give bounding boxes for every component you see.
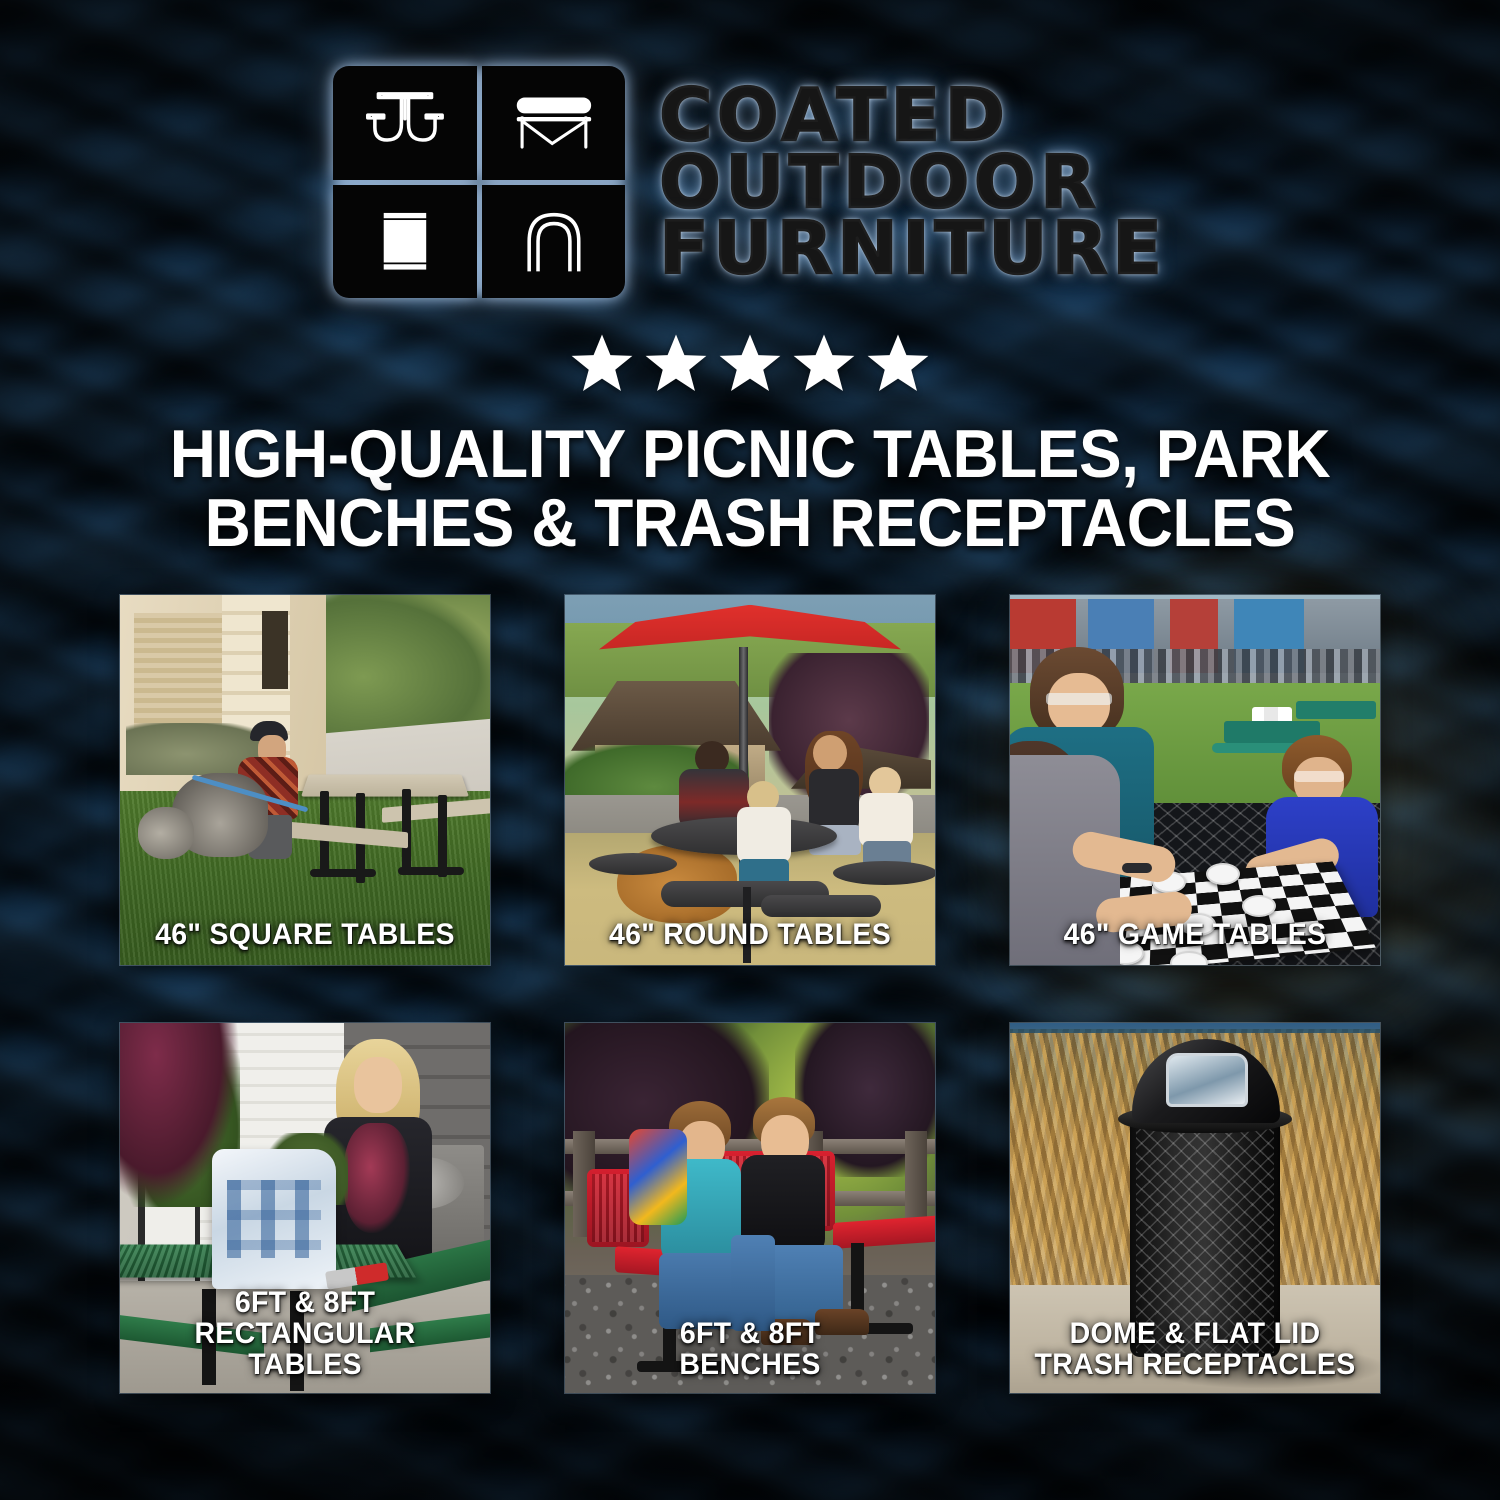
caption-line-1: 46" SQUARE TABLES — [155, 918, 455, 951]
brand-name-line-3: FURNITURE — [659, 215, 1166, 282]
caption-line-2: RECTANGULAR TABLES — [137, 1319, 473, 1381]
flat-lid-trash-can-icon — [333, 185, 477, 299]
caption-line-1: 46" ROUND TABLES — [609, 918, 891, 951]
caption-line-2: BENCHES — [582, 1350, 918, 1381]
caption-line-2: TRASH RECEPTACLES — [1027, 1350, 1363, 1381]
picnic-table-icon — [333, 66, 477, 180]
product-photo-round-tables — [565, 595, 935, 965]
product-caption-square-tables: 46" SQUARE TABLES — [129, 920, 481, 951]
brand-logo-mark — [333, 66, 625, 298]
product-caption-rectangular-tables: 6FT & 8FT RECTANGULAR TABLES — [129, 1288, 481, 1381]
brand-logo-text: COATED OUTDOOR FURNITURE — [659, 82, 1166, 283]
bench-icon — [482, 66, 626, 180]
caption-line-1: 6FT & 8FT — [680, 1317, 820, 1350]
caption-line-1: 46" GAME TABLES — [1064, 918, 1327, 951]
brand-logo: COATED OUTDOOR FURNITURE — [0, 0, 1500, 298]
product-caption-benches: 6FT & 8FT BENCHES — [574, 1319, 926, 1381]
headline-line-2: BENCHES & TRASH RECEPTACLES — [111, 489, 1389, 558]
dome-lid-trash-can-icon — [482, 185, 626, 299]
product-caption-round-tables: 46" ROUND TABLES — [574, 920, 926, 951]
page-title: HIGH-QUALITY PICNIC TABLES, PARK BENCHES… — [45, 420, 1455, 559]
caption-line-1: 6FT & 8FT — [235, 1286, 375, 1319]
product-card-benches[interactable]: 6FT & 8FT BENCHES — [565, 1023, 935, 1393]
product-caption-trash-receptacles: DOME & FLAT LID TRASH RECEPTACLES — [1019, 1319, 1371, 1381]
product-card-game-tables[interactable]: 46" GAME TABLES — [1010, 595, 1380, 965]
star-icon — [645, 332, 707, 394]
headline-line-1: HIGH-QUALITY PICNIC TABLES, PARK — [170, 416, 1330, 492]
star-icon — [571, 332, 633, 394]
product-photo-game-tables — [1010, 595, 1380, 965]
star-rating — [0, 332, 1500, 394]
star-icon — [793, 332, 855, 394]
star-icon — [719, 332, 781, 394]
product-caption-game-tables: 46" GAME TABLES — [1019, 920, 1371, 951]
product-card-square-tables[interactable]: 46" SQUARE TABLES — [120, 595, 490, 965]
product-card-round-tables[interactable]: 46" ROUND TABLES — [565, 595, 935, 965]
promotional-banner: COATED OUTDOOR FURNITURE HIGH-QUALITY PI… — [0, 0, 1500, 1500]
product-card-rectangular-tables[interactable]: 6FT & 8FT RECTANGULAR TABLES — [120, 1023, 490, 1393]
caption-line-1: DOME & FLAT LID — [1070, 1317, 1321, 1350]
product-card-trash-receptacles[interactable]: DOME & FLAT LID TRASH RECEPTACLES — [1010, 1023, 1380, 1393]
product-photo-square-tables — [120, 595, 490, 965]
star-icon — [867, 332, 929, 394]
brand-name-line-1: COATED — [659, 82, 1166, 149]
product-grid: 46" SQUARE TABLES — [120, 595, 1380, 1393]
